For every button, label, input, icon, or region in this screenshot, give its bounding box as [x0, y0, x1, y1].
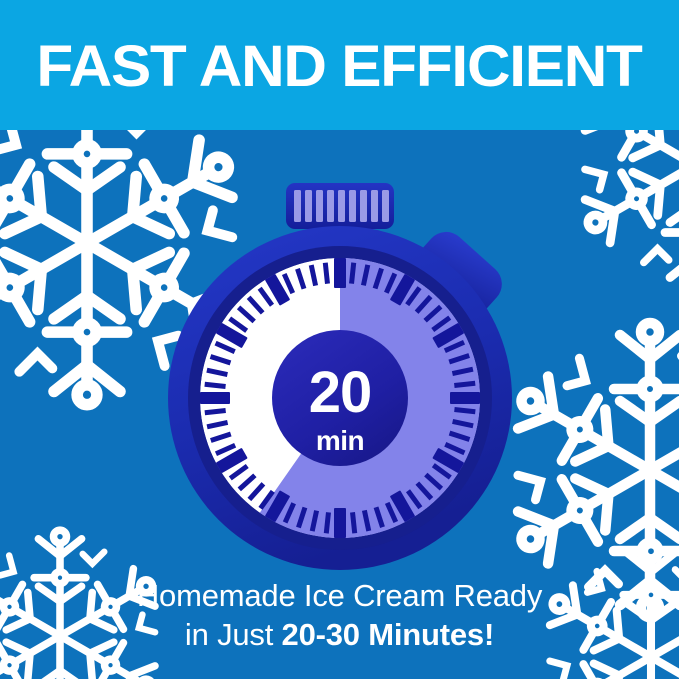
caption-block: Homemade Ice Cream Ready in Just 20-30 M… [0, 578, 679, 653]
page-title: FAST AND EFFICIENT [37, 38, 642, 96]
stopwatch-unit: min [316, 425, 364, 456]
caption-line-2: in Just 20-30 Minutes! [0, 617, 679, 653]
caption-line-2-prefix: in Just [185, 617, 282, 652]
stopwatch-value: 20 [309, 360, 372, 425]
caption-line-2-highlight: 20-30 Minutes! [282, 617, 495, 652]
stopwatch-crown [286, 183, 394, 229]
caption-line-1: Homemade Ice Cream Ready [0, 578, 679, 614]
header-banner: FAST AND EFFICIENT [0, 0, 679, 130]
poster-canvas: FAST AND EFFICIENT [0, 0, 679, 679]
